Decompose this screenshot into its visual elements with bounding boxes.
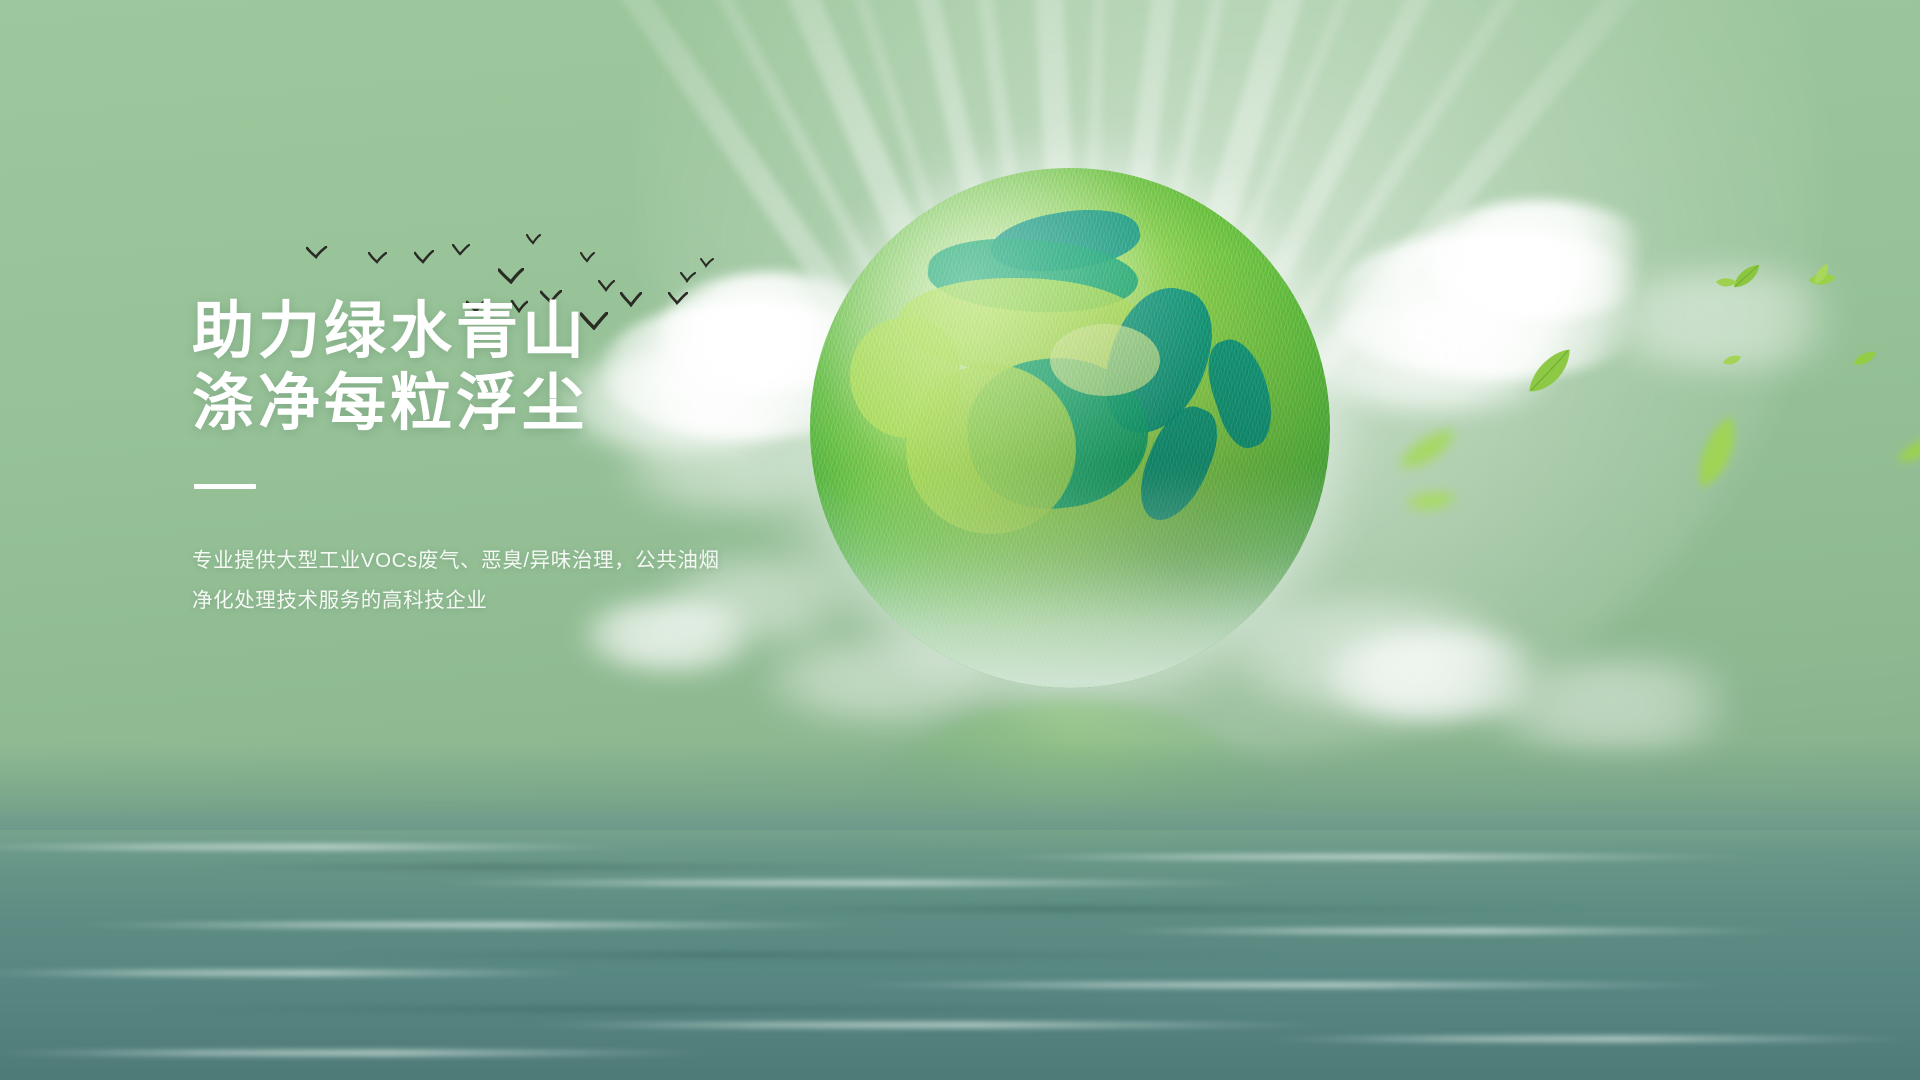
leaf-icon <box>1404 486 1459 517</box>
bird-icon <box>680 272 696 283</box>
cloud-cluster <box>1330 230 1660 380</box>
hero-subtitle: 专业提供大型工业VOCs废气、恶臭/异味治理，公共油烟净化处理技术服务的高科技企… <box>192 541 737 621</box>
water-surface <box>0 810 1920 1080</box>
divider-rule <box>194 484 256 489</box>
page-title: 助力绿水青山 涤净每粒浮尘 <box>192 296 892 440</box>
headline-line-1: 助力绿水青山 <box>192 296 892 368</box>
bird-icon <box>368 252 387 265</box>
leaf-icon <box>1851 350 1879 367</box>
hero-banner: 助力绿水青山 涤净每粒浮尘 专业提供大型工业VOCs废气、恶臭/异味治理，公共油… <box>0 0 1920 1080</box>
leaf-icon <box>1392 427 1464 476</box>
bird-icon <box>580 252 595 263</box>
bird-icon <box>700 258 714 268</box>
bird-icon <box>306 246 328 260</box>
globe-water-reflection <box>838 700 1308 1030</box>
bird-icon <box>498 268 524 284</box>
leaf-icon <box>1722 355 1742 366</box>
leaf-icon <box>1518 346 1583 401</box>
cloud-cluster <box>1320 630 1560 720</box>
bird-icon <box>452 244 470 256</box>
bird-icon <box>598 280 615 292</box>
hero-text-block: 助力绿水青山 涤净每粒浮尘 专业提供大型工业VOCs废气、恶臭/异味治理，公共油… <box>192 296 892 621</box>
cloud-cluster <box>1420 200 1660 320</box>
leaf-icon <box>1680 412 1758 497</box>
bird-icon <box>526 234 541 245</box>
headline-line-2: 涤净每粒浮尘 <box>192 368 892 440</box>
cloud-cluster <box>1230 600 1530 710</box>
water-horizon-fade <box>0 740 1920 830</box>
leaf-icon <box>1893 435 1920 467</box>
cloud-cluster <box>1480 660 1760 750</box>
cloud-cluster <box>760 640 1020 720</box>
bird-icon <box>414 250 434 264</box>
